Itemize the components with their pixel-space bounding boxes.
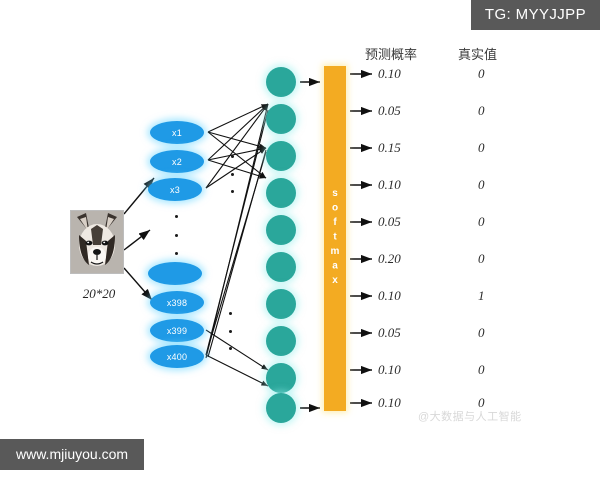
truth-value: 0 [478, 66, 485, 82]
probability-value: 0.05 [378, 103, 401, 119]
output-node-2 [266, 104, 296, 134]
truth-value: 0 [478, 325, 485, 341]
input-node-unlabeled [148, 262, 202, 285]
truth-value: 0 [478, 103, 485, 119]
column-header-probability: 预测概率 [365, 44, 417, 63]
input-node-x1: x1 [150, 121, 204, 144]
mid-upper-ellipsis [230, 155, 235, 193]
input-node-label: x2 [172, 157, 182, 167]
probability-value: 0.10 [378, 66, 401, 82]
column-header-truth: 真实值 [458, 44, 497, 63]
site-watermark: www.mjiuyou.com [0, 439, 144, 470]
output-node-9 [266, 363, 296, 393]
input-node-label: x3 [170, 185, 180, 195]
probability-value: 0.10 [378, 395, 401, 411]
input-node-x2: x2 [150, 150, 204, 173]
input-node-x3: x3 [148, 178, 202, 201]
probability-value: 0.10 [378, 362, 401, 378]
input-node-x400: x400 [150, 345, 204, 368]
truth-value: 1 [478, 288, 485, 304]
input-node-label: x398 [167, 298, 187, 308]
truth-value: 0 [478, 362, 485, 378]
image-size-caption: 20*20 [64, 286, 134, 302]
output-node-10 [266, 393, 296, 423]
input-layer-ellipsis [174, 215, 179, 255]
truth-value: 0 [478, 251, 485, 267]
probability-value: 0.10 [378, 177, 401, 193]
input-node-label: x400 [167, 352, 187, 362]
input-node-x399: x399 [150, 319, 204, 342]
probability-value: 0.05 [378, 325, 401, 341]
input-node-label: x1 [172, 128, 182, 138]
faint-watermark: @大数据与人工智能 [418, 408, 522, 424]
truth-value: 0 [478, 140, 485, 156]
output-node-5 [266, 215, 296, 245]
truth-value: 0 [478, 214, 485, 230]
output-node-6 [266, 252, 296, 282]
softmax-label: softmax [330, 188, 341, 290]
probability-value: 0.05 [378, 214, 401, 230]
diagram-canvas: TG: MYYJJPP 20*20 [0, 0, 600, 480]
output-node-7 [266, 289, 296, 319]
input-node-x398: x398 [150, 291, 204, 314]
output-node-8 [266, 326, 296, 356]
probability-value: 0.10 [378, 288, 401, 304]
truth-value: 0 [478, 177, 485, 193]
output-node-3 [266, 141, 296, 171]
mid-lower-ellipsis [228, 312, 233, 350]
input-image-husky [70, 210, 124, 274]
probability-value: 0.20 [378, 251, 401, 267]
output-node-1 [266, 67, 296, 97]
input-node-label: x399 [167, 326, 187, 336]
softmax-layer: softmax [324, 66, 346, 411]
tag-badge: TG: MYYJJPP [471, 0, 600, 30]
probability-value: 0.15 [378, 140, 401, 156]
output-node-4 [266, 178, 296, 208]
